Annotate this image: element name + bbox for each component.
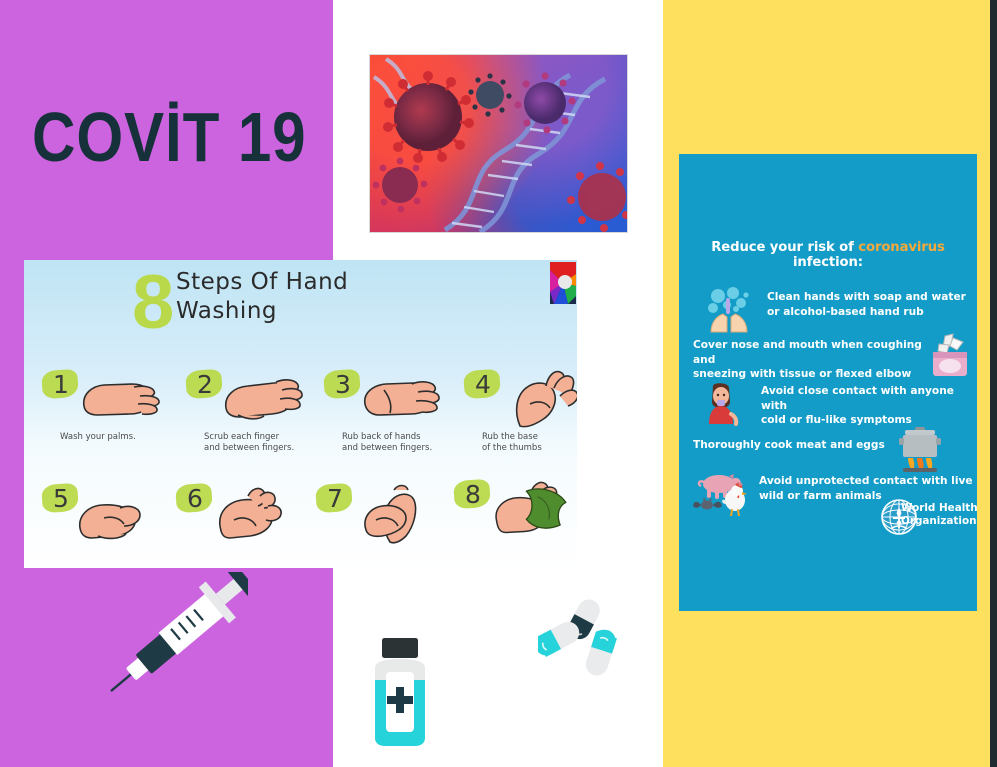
step-caption: Rub back of hands and between fingers. (342, 432, 458, 454)
hands-scrub-fingers-icon (218, 368, 310, 430)
who-item-text: Thoroughly cook meat and eggs (693, 438, 893, 453)
hands-wrist-icon (348, 482, 440, 544)
poster-collage-canvas: COVİT 19 (0, 0, 997, 767)
handwashing-poster-title: Steps Of Hand Washing (176, 268, 456, 326)
hands-wash-palms-icon (74, 368, 166, 430)
who-logo-text: World Health Organization (901, 502, 977, 527)
hands-rub-back-icon (356, 368, 448, 430)
hands-interlock-icon (74, 482, 166, 544)
who-logo-line1: World Health (901, 502, 977, 515)
capsule-pills-icon (538, 597, 624, 681)
step-number: 7 (314, 482, 356, 516)
handwashing-title-line1: Steps Of Hand (176, 268, 456, 297)
headline-before: Reduce your risk of (711, 240, 858, 255)
step-number: 5 (40, 482, 82, 516)
handwashing-step-count: 8 (132, 266, 174, 340)
handwashing-poster: 8 Steps Of Hand Washing 1 Wash your palm… (24, 260, 577, 568)
headline-accent-coronavirus: coronavirus (858, 240, 945, 255)
who-item-text: Avoid close contact with anyone with col… (761, 384, 977, 428)
step-number: 3 (322, 368, 364, 402)
hands-dry-towel-icon (486, 478, 577, 540)
step-caption: Wash your palms. (60, 432, 176, 443)
handwashing-poster-header: 8 Steps Of Hand Washing (24, 260, 577, 342)
farm-animals-icon (693, 470, 751, 516)
soap-bubbles-hands-icon (705, 284, 753, 334)
who-item-text: Clean hands with soap and water or alcoh… (767, 290, 975, 319)
step-number: 8 (452, 478, 494, 512)
headline-after: infection: (793, 255, 863, 270)
sick-person-icon (701, 380, 741, 426)
tissue-box-icon (929, 332, 971, 378)
page-title: COVİT 19 (32, 100, 281, 174)
who-logo-line2: Organization (901, 515, 977, 528)
handwashing-title-line2: Washing (176, 297, 456, 326)
medicine-bottle-icon (365, 636, 435, 748)
step-number: 4 (462, 368, 504, 402)
step-number: 2 (184, 368, 226, 402)
virus-illustration (370, 55, 627, 232)
step-number: 1 (40, 368, 82, 402)
who-poster-headline: Reduce your risk of coronavirus infectio… (679, 240, 977, 270)
right-edge-dark-strip (990, 0, 997, 767)
step-number: 6 (174, 482, 216, 516)
step-caption: Rub the base of the thumbs (482, 432, 577, 454)
syringe-icon (98, 572, 248, 707)
who-prevention-poster: Reduce your risk of coronavirus infectio… (679, 154, 977, 611)
hands-rub-thumbs-icon (496, 368, 577, 430)
who-item-text: Cover nose and mouth when coughing and s… (693, 338, 925, 382)
cooking-pot-icon (897, 424, 943, 474)
step-caption: Scrub each finger and between fingers. (204, 432, 320, 454)
hands-rub-palm-icon (208, 482, 300, 544)
coronavirus-dna-photo (369, 54, 628, 233)
color-wheel-icon (550, 262, 576, 304)
